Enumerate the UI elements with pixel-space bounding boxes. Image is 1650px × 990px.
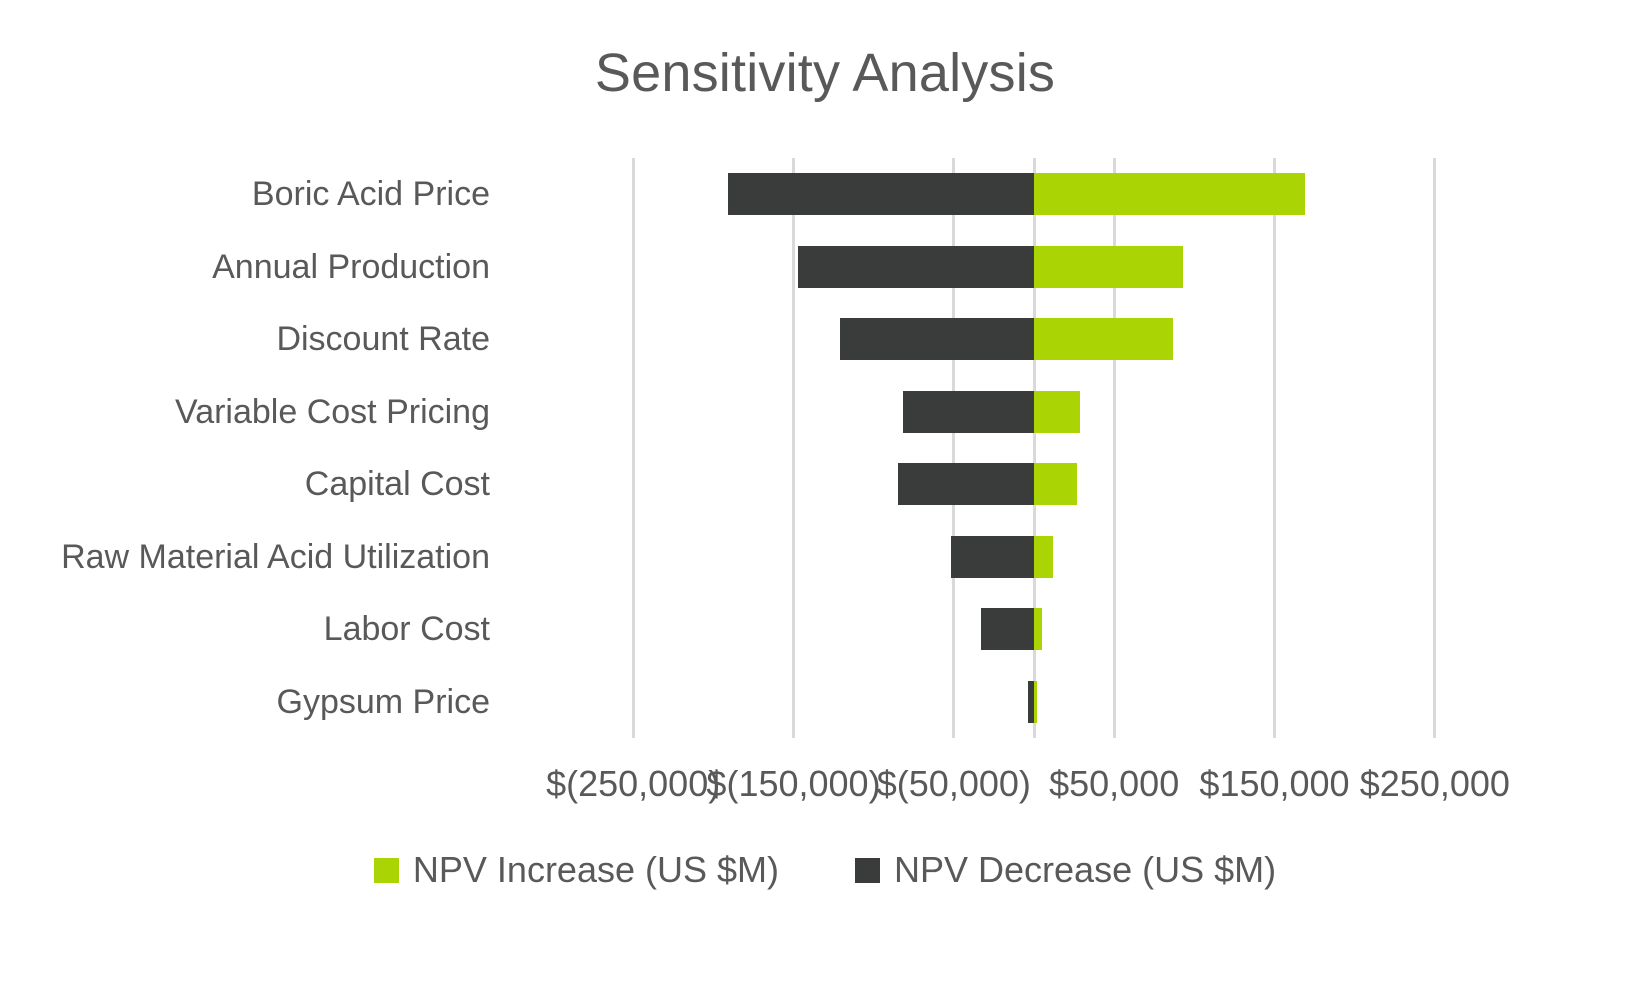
- bar-decrease[interactable]: [981, 608, 1034, 650]
- sensitivity-analysis-chart: Sensitivity Analysis Boric Acid PriceAnn…: [0, 0, 1650, 990]
- legend-item[interactable]: NPV Decrease (US $M): [855, 852, 1276, 888]
- bar-increase[interactable]: [1034, 318, 1173, 360]
- bar-rows: [553, 158, 1515, 738]
- category-label: Labor Cost: [324, 593, 490, 666]
- category-label: Boric Acid Price: [252, 158, 490, 231]
- bar-decrease[interactable]: [840, 318, 1034, 360]
- value-axis-labels: $(250,000)$(150,000)$(50,000)$50,000$150…: [0, 762, 1650, 822]
- legend-item[interactable]: NPV Increase (US $M): [374, 852, 779, 888]
- value-axis-tick-label: $250,000: [1360, 762, 1510, 805]
- bar-decrease[interactable]: [798, 246, 1034, 288]
- bar-row: [553, 303, 1515, 376]
- bar-decrease[interactable]: [728, 173, 1034, 215]
- value-axis-tick-label: $(250,000): [546, 762, 720, 805]
- bar-row: [553, 666, 1515, 739]
- bar-row: [553, 593, 1515, 666]
- category-label: Discount Rate: [276, 303, 490, 376]
- bar-increase[interactable]: [1034, 391, 1080, 433]
- bar-decrease[interactable]: [1028, 681, 1034, 723]
- chart-title: Sensitivity Analysis: [0, 42, 1650, 104]
- bar-increase[interactable]: [1034, 536, 1053, 578]
- bar-increase[interactable]: [1034, 608, 1042, 650]
- value-axis-tick-label: $(50,000): [877, 762, 1031, 805]
- legend-swatch-icon: [855, 858, 880, 883]
- chart-legend: NPV Increase (US $M)NPV Decrease (US $M): [0, 852, 1650, 888]
- bar-increase[interactable]: [1034, 463, 1077, 505]
- legend-label: NPV Increase (US $M): [413, 852, 779, 888]
- bar-increase[interactable]: [1034, 246, 1183, 288]
- value-axis-tick-label: $(150,000): [706, 762, 880, 805]
- bar-row: [553, 376, 1515, 449]
- legend-label: NPV Decrease (US $M): [894, 852, 1276, 888]
- bar-row: [553, 158, 1515, 231]
- bar-decrease[interactable]: [951, 536, 1034, 578]
- legend-swatch-icon: [374, 858, 399, 883]
- bar-increase[interactable]: [1034, 681, 1037, 723]
- bar-decrease[interactable]: [903, 391, 1034, 433]
- value-axis-tick-label: $50,000: [1049, 762, 1179, 805]
- category-axis-labels: Boric Acid PriceAnnual ProductionDiscoun…: [0, 158, 513, 738]
- bar-row: [553, 448, 1515, 521]
- category-label: Annual Production: [212, 231, 490, 304]
- category-label: Capital Cost: [305, 448, 490, 521]
- value-axis-tick-label: $150,000: [1199, 762, 1349, 805]
- category-label: Variable Cost Pricing: [175, 376, 490, 449]
- plot-area: [553, 158, 1515, 738]
- bar-row: [553, 521, 1515, 594]
- bar-row: [553, 231, 1515, 304]
- bar-decrease[interactable]: [898, 463, 1034, 505]
- bar-increase[interactable]: [1034, 173, 1305, 215]
- category-label: Gypsum Price: [277, 666, 491, 739]
- category-label: Raw Material Acid Utilization: [61, 521, 490, 594]
